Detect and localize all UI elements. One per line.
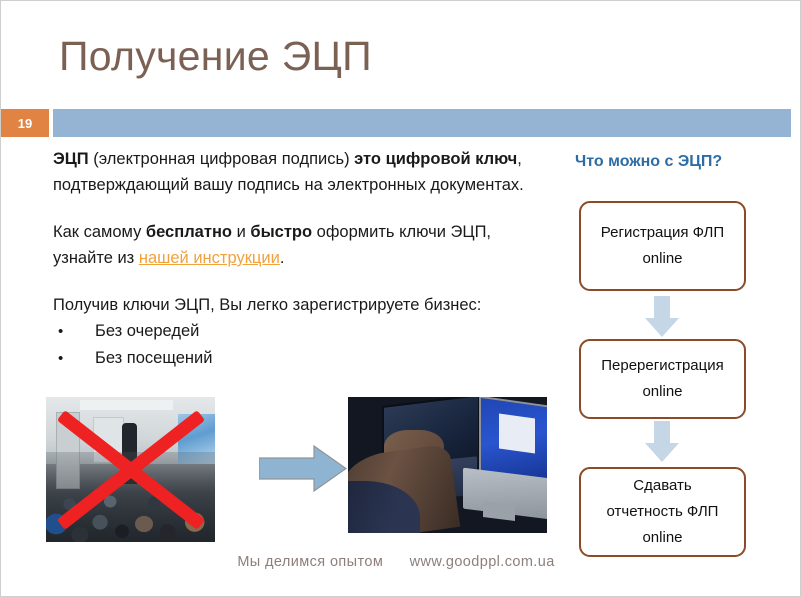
definition-expansion: (электронная цифровая подпись) xyxy=(89,150,355,168)
instruction-link[interactable]: нашей инструкции xyxy=(139,249,280,267)
instruction-period: . xyxy=(280,249,285,267)
flowchart-box-2-line-2: online xyxy=(642,379,682,405)
queue-photo-ceiling xyxy=(80,400,173,410)
flowchart-box-2-line-1: Перерегистрация xyxy=(601,353,724,379)
flowchart-heading: Что можно с ЭЦП? xyxy=(575,153,722,171)
flowchart-box-1-line-1: Регистрация ФЛП xyxy=(601,220,724,246)
definition-term: ЭЦП xyxy=(53,150,89,168)
footer-website: www.goodppl.com.ua xyxy=(410,554,555,570)
paragraph-benefits-intro: Получив ключи ЭЦП, Вы легко зарегистриру… xyxy=(53,292,553,318)
page-number-badge: 19 xyxy=(1,109,49,137)
paragraph-spacer-2 xyxy=(53,271,553,292)
list-item-label: Без посещений xyxy=(95,349,212,367)
list-item: • Без очередей xyxy=(53,318,553,345)
instruction-free: бесплатно xyxy=(146,223,232,241)
flowchart-box-1-line-2: online xyxy=(642,246,682,272)
bullet-icon: • xyxy=(58,318,63,345)
instruction-fast: быстро xyxy=(250,223,312,241)
flowchart-box-3-line-2: отчетность ФЛП xyxy=(607,499,719,525)
presentation-slide: Получение ЭЦП 19 ЭЦП (электронная цифров… xyxy=(0,0,801,597)
slide-footer: Мы делимся опытом www.goodppl.com.ua xyxy=(1,554,791,570)
instruction-lead: Как самому xyxy=(53,223,146,241)
list-item: • Без посещений xyxy=(53,345,553,372)
flowchart-box-registration: Регистрация ФЛП online xyxy=(579,201,746,291)
queue-photo xyxy=(46,397,215,542)
band-bar xyxy=(53,109,791,137)
laptop-photo-right-document xyxy=(499,414,535,454)
page-title: Получение ЭЦП xyxy=(59,31,372,81)
flowchart-box-reregistration: Перерегистрация online xyxy=(579,339,746,419)
transition-arrow-icon xyxy=(259,445,347,492)
page-number-band: 19 xyxy=(1,109,791,137)
flowchart-box-3-line-3: online xyxy=(642,525,682,551)
flowchart-down-arrow-1-icon xyxy=(644,296,680,338)
flowchart-box-3-line-1: Сдавать xyxy=(633,473,691,499)
list-item-label: Без очередей xyxy=(95,322,199,340)
flowchart-down-arrow-2-icon xyxy=(644,421,680,463)
paragraph-definition: ЭЦП (электронная цифровая подпись) это ц… xyxy=(53,146,553,198)
bullet-icon: • xyxy=(58,345,63,372)
paragraph-spacer xyxy=(53,198,553,219)
definition-emphasis: это цифровой ключ xyxy=(354,150,517,168)
footer-tagline: Мы делимся опытом xyxy=(237,554,383,570)
laptop-photo xyxy=(348,397,547,533)
laptop-photo-trackpad xyxy=(483,501,515,521)
paragraph-instruction: Как самому бесплатно и быстро оформить к… xyxy=(53,219,553,271)
flowchart-box-reporting: Сдавать отчетность ФЛП online xyxy=(579,467,746,557)
instruction-and: и xyxy=(232,223,250,241)
benefits-list: • Без очередей • Без посещений xyxy=(53,318,553,372)
body-text-block: ЭЦП (электронная цифровая подпись) это ц… xyxy=(53,146,553,372)
queue-photo-crowd xyxy=(46,452,215,542)
